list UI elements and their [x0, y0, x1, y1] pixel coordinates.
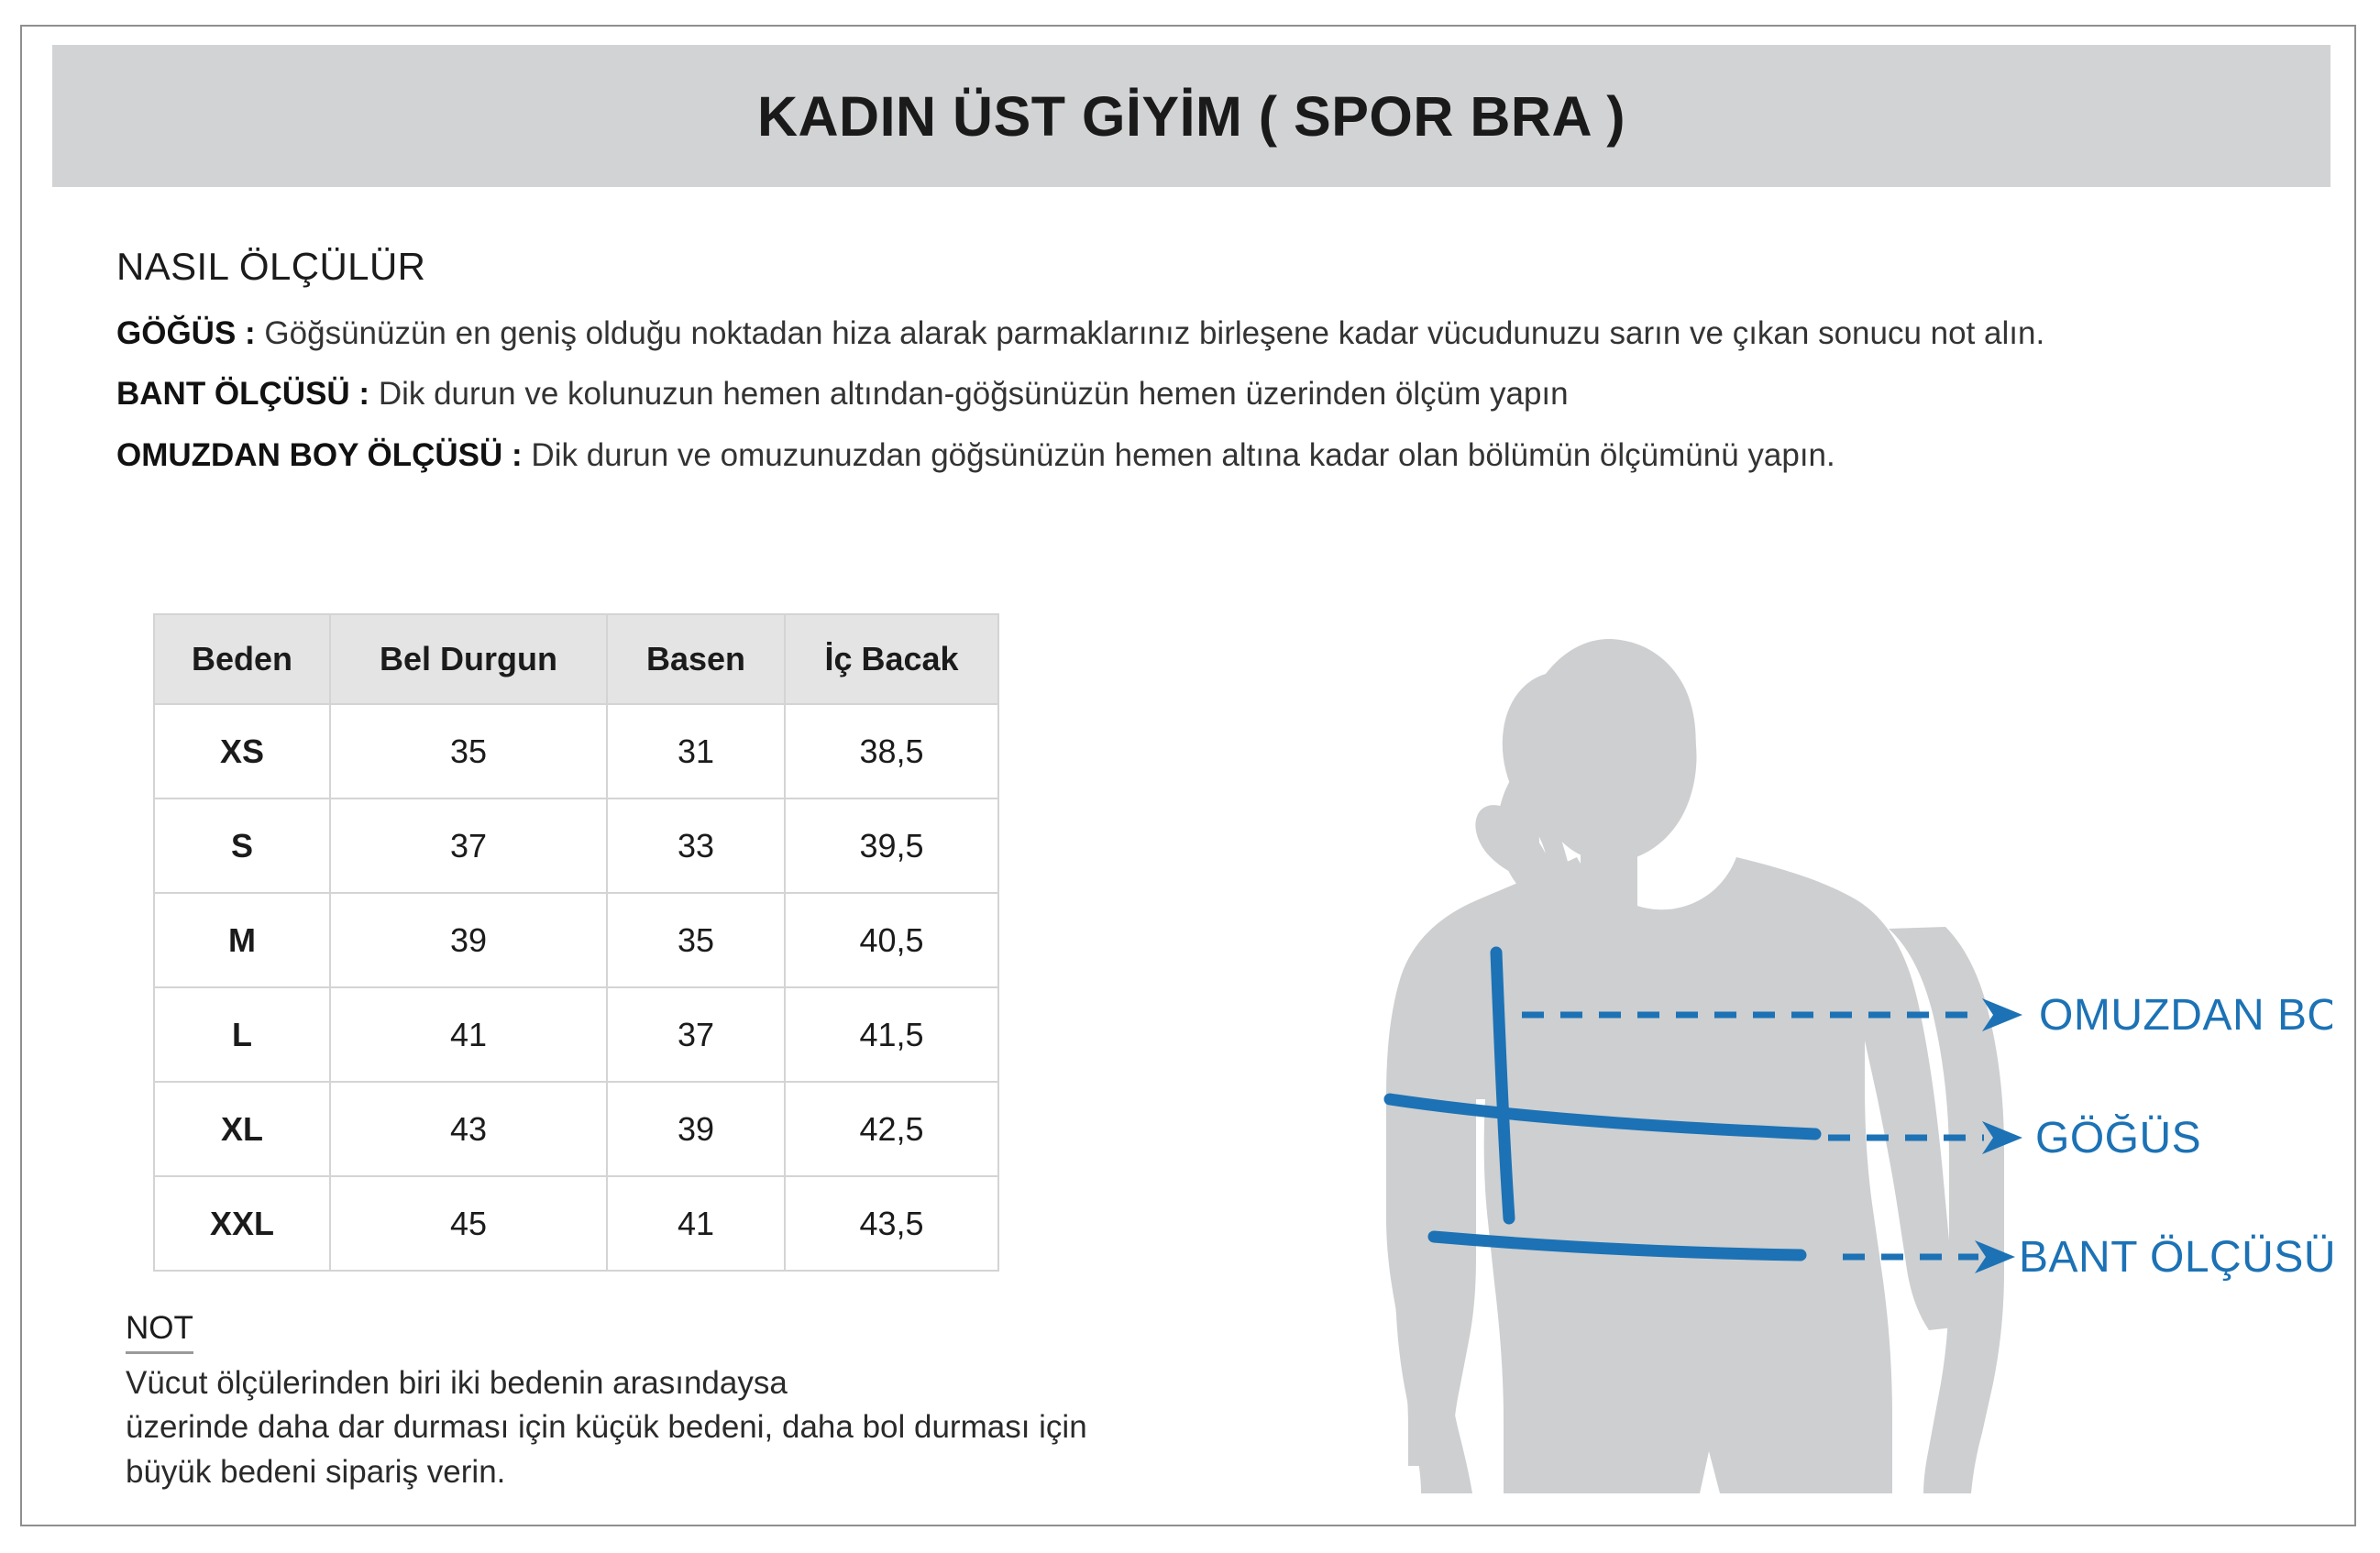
cell-bacak: 39,5 [785, 799, 998, 893]
cell-bel: 45 [330, 1176, 607, 1271]
table-row: XL 43 39 42,5 [154, 1082, 998, 1176]
page-title: KADIN ÜST GİYİM ( SPOR BRA ) [757, 84, 1625, 149]
note-section: NOT Vücut ölçülerinden biri iki bedenin … [126, 1310, 1317, 1494]
cell-beden: S [154, 799, 330, 893]
measure-line-bant-olcusu: BANT ÖLÇÜSÜ : Dik durun ve kolunuzun hem… [116, 369, 2280, 419]
size-table-body: XS 35 31 38,5 S 37 33 39,5 M 39 35 40,5 … [154, 704, 998, 1271]
female-silhouette-icon [1386, 639, 2004, 1493]
how-to-measure-heading: NASIL ÖLÇÜLÜR [116, 245, 2280, 289]
cell-bacak: 43,5 [785, 1176, 998, 1271]
size-table-head: Beden Bel Durgun Basen İç Bacak [154, 614, 998, 704]
cell-basen: 33 [607, 799, 785, 893]
table-row: S 37 33 39,5 [154, 799, 998, 893]
cell-bel: 35 [330, 704, 607, 799]
table-header-row: Beden Bel Durgun Basen İç Bacak [154, 614, 998, 704]
size-chart-page: KADIN ÜST GİYİM ( SPOR BRA ) NASIL ÖLÇÜL… [20, 25, 2356, 1526]
column-header-ic-bacak: İç Bacak [785, 614, 998, 704]
size-table: Beden Bel Durgun Basen İç Bacak XS 35 31… [153, 613, 999, 1272]
note-line-2: üzerinde daha dar durması için küçük bed… [126, 1405, 1317, 1449]
cell-bacak: 41,5 [785, 987, 998, 1082]
cell-bel: 39 [330, 893, 607, 987]
measure-text-bant-olcusu: Dik durun ve kolunuzun hemen altından-gö… [369, 376, 1569, 412]
cell-basen: 35 [607, 893, 785, 987]
cell-beden: M [154, 893, 330, 987]
cell-basen: 39 [607, 1082, 785, 1176]
table-row: XXL 45 41 43,5 [154, 1176, 998, 1271]
cell-basen: 31 [607, 704, 785, 799]
cell-bacak: 40,5 [785, 893, 998, 987]
measurement-figure: OMUZDAN BOY GÖĞÜS BANT ÖLÇÜSÜ [1306, 457, 2332, 1493]
measure-line-gogus: GÖĞÜS : Göğsünüzün en geniş olduğu nokta… [116, 309, 2280, 358]
cell-beden: L [154, 987, 330, 1082]
table-row: M 39 35 40,5 [154, 893, 998, 987]
cell-bel: 43 [330, 1082, 607, 1176]
cell-basen: 37 [607, 987, 785, 1082]
cell-beden: XL [154, 1082, 330, 1176]
column-header-bel-durgun: Bel Durgun [330, 614, 607, 704]
note-title: NOT [126, 1310, 193, 1354]
how-to-measure-section: NASIL ÖLÇÜLÜR GÖĞÜS : Göğsünüzün en geni… [116, 245, 2280, 491]
measure-label-bant-olcusu: BANT ÖLÇÜSÜ : [116, 376, 369, 412]
callout-label-omuzdan-boy: OMUZDAN BOY [2039, 991, 2332, 1040]
callout-label-gogus: GÖĞÜS [2035, 1113, 2201, 1162]
callout-label-bant-olcusu: BANT ÖLÇÜSÜ [2019, 1233, 2332, 1282]
table-row: XS 35 31 38,5 [154, 704, 998, 799]
cell-basen: 41 [607, 1176, 785, 1271]
cell-bel: 37 [330, 799, 607, 893]
cell-bacak: 42,5 [785, 1082, 998, 1176]
cell-bacak: 38,5 [785, 704, 998, 799]
cell-beden: XS [154, 704, 330, 799]
column-header-beden: Beden [154, 614, 330, 704]
title-band: KADIN ÜST GİYİM ( SPOR BRA ) [52, 45, 2330, 187]
table-row: L 41 37 41,5 [154, 987, 998, 1082]
measure-label-gogus: GÖĞÜS : [116, 315, 256, 351]
measure-text-gogus: Göğsünüzün en geniş olduğu noktadan hiza… [256, 315, 2045, 351]
cell-beden: XXL [154, 1176, 330, 1271]
note-line-1: Vücut ölçülerinden biri iki bedenin aras… [126, 1361, 1317, 1405]
cell-bel: 41 [330, 987, 607, 1082]
column-header-basen: Basen [607, 614, 785, 704]
note-line-3: büyük bedeni sipariş verin. [126, 1450, 1317, 1494]
measure-label-omuzdan-boy: OMUZDAN BOY ÖLÇÜSÜ : [116, 437, 523, 473]
